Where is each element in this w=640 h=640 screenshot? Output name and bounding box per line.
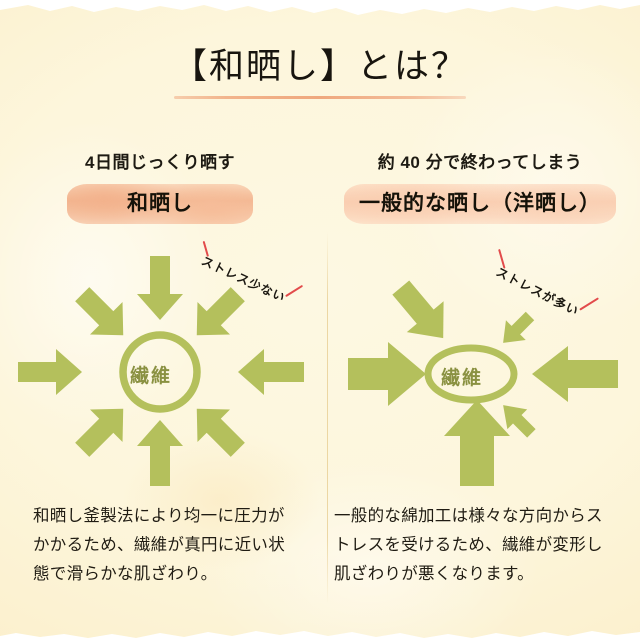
diagram-uneven-pressure: 繊維 ストレスが多い <box>320 234 640 486</box>
arrow-left-large <box>348 342 426 406</box>
column-body-text: 和晒し釜製法により均一に圧力がかかるため、繊維が真円に近い状態で滑らかな肌ざわり… <box>33 502 297 589</box>
fiber-label: 繊維 <box>130 361 172 388</box>
arrow-top <box>137 256 183 320</box>
uneven-arrows-svg <box>320 234 640 486</box>
arrow-bottom-left <box>181 393 255 467</box>
uniform-arrows-svg <box>0 234 320 486</box>
arrow-bottom <box>137 420 183 486</box>
arrow-right-large <box>532 346 618 402</box>
highlight-label: 和晒し <box>127 182 193 226</box>
column-lead-text: 約 40 分で終わってしまう <box>320 148 640 173</box>
fiber-label: 繊維 <box>441 363 483 390</box>
column-yozarashi: 約 40 分で終わってしまう 一般的な晒し（洋晒し） <box>320 140 640 610</box>
highlight-wrap: 一般的な晒し（洋晒し） <box>320 182 640 228</box>
arrow-bottom-right <box>66 393 140 467</box>
title-block: 【和晒し】とは？ <box>0 38 640 95</box>
arrow-right <box>238 349 304 395</box>
arrow-top-left-small <box>493 306 540 353</box>
highlight-wrap: 和晒し <box>0 182 320 228</box>
column-lead-text: 4日間じっくり晒す <box>0 148 320 173</box>
column-wazarashi: 4日間じっくり晒す 和晒し <box>0 140 320 610</box>
infographic-page: 【和晒し】とは？ 4日間じっくり晒す 和晒し <box>0 0 640 640</box>
column-body-text: 一般的な綿加工は様々な方向からストレスを受けるため、繊維が変形し肌ざわりが悪くな… <box>334 502 606 589</box>
arrow-top-right <box>66 278 140 352</box>
title-underline <box>174 96 466 99</box>
torn-paper-edge-bottom <box>0 618 640 640</box>
arrow-top-right-medium <box>382 272 461 353</box>
arrow-bottom-large <box>444 400 510 486</box>
arrow-left <box>18 349 82 395</box>
diagram-uniform-pressure: 繊維 ストレス少ない <box>0 234 320 486</box>
arrow-top-left <box>181 278 255 352</box>
arrow-bottom-left-small <box>493 395 541 443</box>
highlight-label: 一般的な晒し（洋晒し） <box>359 182 601 226</box>
page-title: 【和晒し】とは？ <box>166 38 474 95</box>
torn-paper-edge-top <box>0 0 640 22</box>
